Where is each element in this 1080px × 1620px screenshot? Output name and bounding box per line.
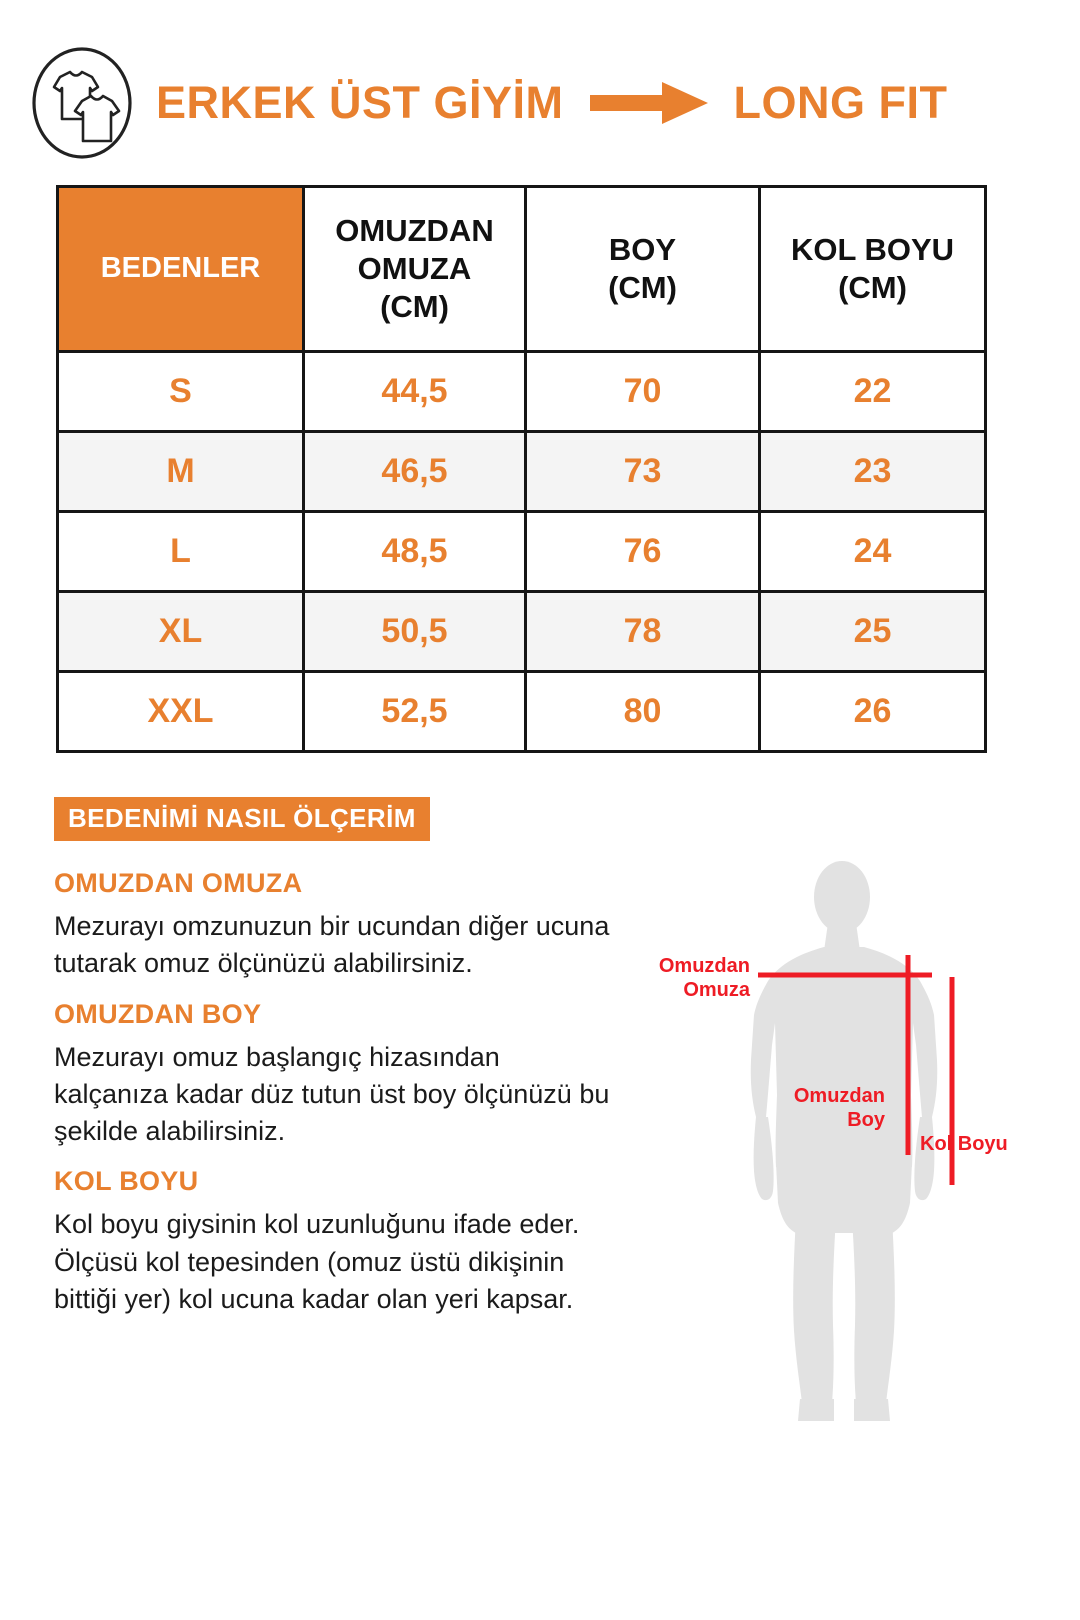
fit-label: LONG FIT [734, 77, 948, 129]
howto-heading-shoulder: OMUZDAN OMUZA [54, 868, 614, 899]
label-omuzdan-omuza: Omuzdan Omuza [620, 955, 750, 1002]
cell-size: L [58, 512, 304, 592]
table-row: S 44,5 70 22 [58, 352, 986, 432]
cell-boy: 73 [526, 432, 760, 512]
howto-text-shoulder: Mezurayı omzunuzun bir ucundan diğer ucu… [54, 908, 614, 983]
label-omuzdan-boy: Omuzdan Boy [770, 1085, 885, 1132]
cell-size: XXL [58, 672, 304, 752]
cell-size: M [58, 432, 304, 512]
cell-size: XL [58, 592, 304, 672]
page-header: ERKEK ÜST GİYİM LONG FIT [0, 38, 1080, 168]
cell-boy: 70 [526, 352, 760, 432]
column-header-sizes-label: BEDENLER [101, 252, 261, 284]
sleeve-line1: KOL BOYU [791, 232, 954, 267]
howto-heading-boy: OMUZDAN BOY [54, 999, 614, 1030]
label-omuzdan-omuza-line2: Omuza [683, 979, 750, 1001]
howto-heading-sleeve: KOL BOYU [54, 1166, 614, 1197]
howto-block-shoulder: OMUZDAN OMUZA Mezurayı omzunuzun bir ucu… [54, 868, 614, 983]
cell-sleeve: 26 [760, 672, 986, 752]
table-row: XXL 52,5 80 26 [58, 672, 986, 752]
column-header-sleeve: KOL BOYU (CM) [760, 187, 986, 352]
howto-block-sleeve: KOL BOYU Kol boyu giysinin kol uzunluğun… [54, 1166, 614, 1318]
column-header-sizes: BEDENLER [58, 187, 304, 352]
cell-sleeve: 22 [760, 352, 986, 432]
howto-text-sleeve: Kol boyu giysinin kol uzunluğunu ifade e… [54, 1206, 614, 1318]
cell-shoulder: 50,5 [304, 592, 526, 672]
cell-shoulder: 46,5 [304, 432, 526, 512]
howto-sections: OMUZDAN OMUZA Mezurayı omzunuzun bir ucu… [54, 868, 614, 1334]
table-header-row: BEDENLER OMUZDAN OMUZA (CM) BOY (CM) KOL… [58, 187, 986, 352]
howto-banner: BEDENİMİ NASIL ÖLÇERİM [54, 797, 430, 841]
cell-boy: 80 [526, 672, 760, 752]
table-row: L 48,5 76 24 [58, 512, 986, 592]
boy-line2: (CM) [608, 270, 677, 305]
cell-shoulder: 48,5 [304, 512, 526, 592]
column-header-shoulder: OMUZDAN OMUZA (CM) [304, 187, 526, 352]
measurement-diagram: Omuzdan Omuza Omuzdan Boy Kol Boyu [620, 855, 1050, 1435]
column-header-boy: BOY (CM) [526, 187, 760, 352]
tshirt-circle-icon [30, 45, 134, 161]
page-title: ERKEK ÜST GİYİM [156, 77, 564, 129]
boy-line1: BOY [609, 232, 676, 267]
howto-text-boy: Mezurayı omuz başlangıç hizasından kalça… [54, 1039, 614, 1151]
cell-size: S [58, 352, 304, 432]
arrow-right-icon [590, 80, 710, 126]
cell-shoulder: 52,5 [304, 672, 526, 752]
howto-block-boy: OMUZDAN BOY Mezurayı omuz başlangıç hiza… [54, 999, 614, 1151]
label-omuzdan-omuza-line1: Omuzdan [659, 955, 750, 977]
cell-shoulder: 44,5 [304, 352, 526, 432]
table-row: XL 50,5 78 25 [58, 592, 986, 672]
cell-boy: 76 [526, 512, 760, 592]
sleeve-line2: (CM) [838, 270, 907, 305]
label-omuzdan-boy-line1: Omuzdan [794, 1085, 885, 1107]
cell-sleeve: 25 [760, 592, 986, 672]
label-kol-boyu: Kol Boyu [920, 1133, 1008, 1157]
shoulder-line3: (CM) [380, 289, 449, 324]
shoulder-line2: OMUZA [358, 251, 472, 286]
shoulder-line1: OMUZDAN [335, 213, 493, 248]
label-omuzdan-boy-line2: Boy [847, 1109, 885, 1131]
cell-sleeve: 24 [760, 512, 986, 592]
size-chart-table: BEDENLER OMUZDAN OMUZA (CM) BOY (CM) KOL… [56, 185, 987, 753]
cell-sleeve: 23 [760, 432, 986, 512]
cell-boy: 78 [526, 592, 760, 672]
table-row: M 46,5 73 23 [58, 432, 986, 512]
